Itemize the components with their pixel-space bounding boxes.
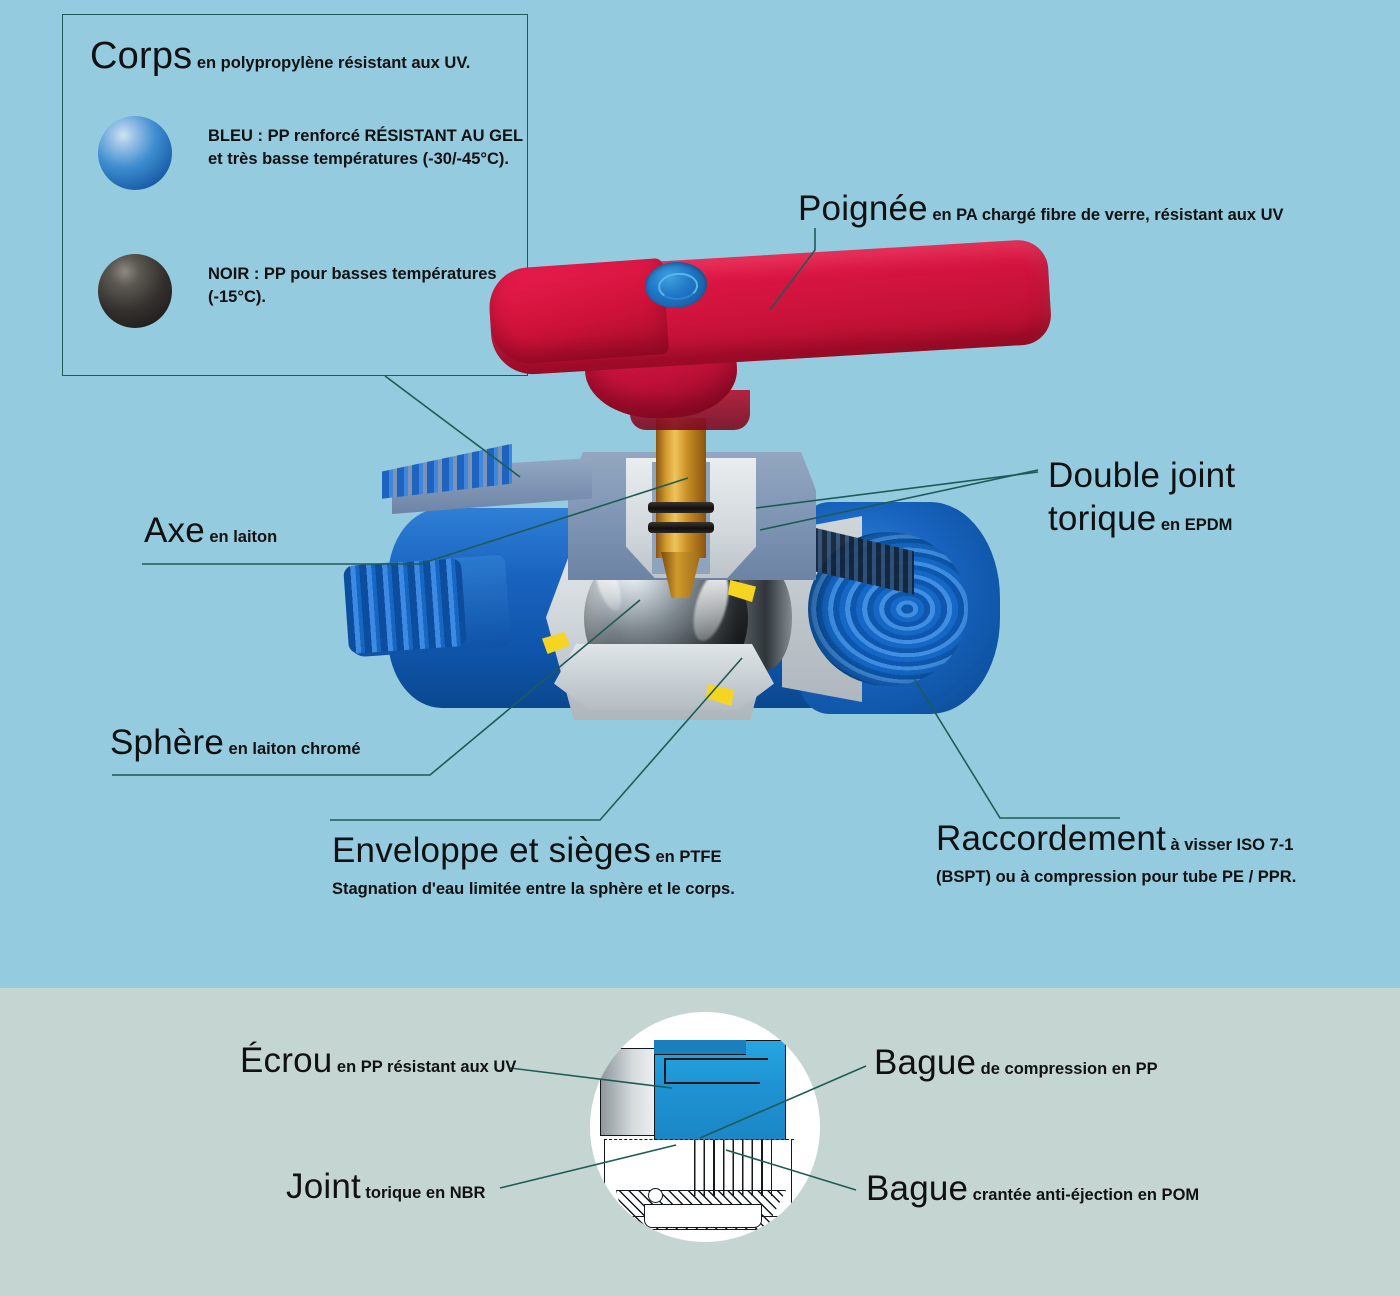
detail-blue-line-3 — [664, 1058, 666, 1084]
callout-ecrou-subtitle: en PP résistant aux UV — [337, 1058, 516, 1076]
legend-blue-line2: et très basse températures (-30/-45°C). — [208, 148, 523, 171]
callout-corps: Corps en polypropylène résistant aux UV. — [90, 34, 470, 79]
o-ring-lower — [648, 522, 714, 533]
legend-item-blue: BLEU : PP renforcé RÉSISTANT AU GEL et t… — [98, 116, 523, 190]
diagram-root: Corps en polypropylène résistant aux UV.… — [0, 0, 1400, 1296]
callout-axe-subtitle: en laiton — [209, 528, 277, 546]
detail-toothed-ring-ribs — [686, 1140, 772, 1196]
callout-sphere-title: Sphère — [110, 723, 224, 762]
callout-corps-subtitle: en polypropylène résistant aux UV. — [197, 54, 471, 72]
legend-blue-line1: BLEU : PP renforcé RÉSISTANT AU GEL — [208, 125, 523, 148]
callout-ecrou-title: Écrou — [240, 1041, 332, 1080]
callout-enveloppe-et-sieges: Enveloppe et sièges en PTFE Stagnation d… — [332, 830, 735, 900]
callout-double-joint-title-line2: torique — [1048, 499, 1156, 538]
callout-bague-crantee-subtitle: crantée anti-éjection en POM — [973, 1186, 1199, 1204]
callout-sphere-subtitle: en laiton chromé — [229, 740, 361, 758]
callout-double-joint-torique: Double joint torique en EPDM — [1048, 455, 1235, 540]
callout-raccordement: Raccordement à visser ISO 7-1 (BSPT) ou … — [936, 818, 1296, 888]
ball-valve-cutaway-illustration — [330, 240, 1070, 720]
detail-inner-sleeve — [644, 1204, 762, 1228]
callout-poignee: Poignée en PA chargé fibre de verre, rés… — [798, 188, 1284, 229]
detail-nut-body — [600, 1048, 659, 1136]
callout-sphere: Sphère en laiton chromé — [110, 722, 361, 763]
valve-seat-floor — [554, 644, 774, 710]
callout-raccordement-note: (BSPT) ou à compression pour tube PE / P… — [936, 868, 1296, 887]
o-ring-upper — [648, 502, 714, 513]
legend-item-blue-text: BLEU : PP renforcé RÉSISTANT AU GEL et t… — [208, 116, 523, 172]
black-sphere-swatch — [98, 254, 172, 328]
callout-bague-crantee: Bague crantée anti-éjection en POM — [866, 1168, 1199, 1209]
callout-raccordement-title: Raccordement — [936, 819, 1166, 858]
callout-bague-compression-title: Bague — [874, 1043, 976, 1082]
callout-joint-title: Joint — [286, 1167, 361, 1206]
callout-axe: Axe en laiton — [144, 510, 277, 551]
callout-raccordement-subtitle: à visser ISO 7-1 — [1170, 836, 1293, 854]
blue-sphere-swatch — [98, 116, 172, 190]
callout-enveloppe-note: Stagnation d'eau limitée entre la sphère… — [332, 880, 735, 899]
detail-o-ring — [648, 1188, 663, 1203]
callout-poignee-subtitle: en PA chargé fibre de verre, résistant a… — [932, 206, 1283, 224]
callout-double-joint-title-line1: Double joint — [1048, 456, 1235, 495]
callout-joint: Joint torique en NBR — [286, 1166, 485, 1207]
detail-blue-ring — [654, 1040, 786, 1142]
detail-blue-line-2 — [664, 1082, 760, 1084]
brass-stem — [656, 418, 706, 558]
callout-axe-title: Axe — [144, 511, 205, 550]
compression-fitting-detail-illustration — [590, 1012, 820, 1242]
callout-bague-compression: Bague de compression en PP — [874, 1042, 1158, 1083]
callout-poignee-title: Poignée — [798, 189, 928, 228]
callout-enveloppe-title: Enveloppe et sièges — [332, 831, 651, 870]
callout-bague-compression-subtitle: de compression en PP — [981, 1060, 1158, 1078]
detail-blue-step — [654, 1040, 746, 1055]
red-t-handle-left-arm — [487, 258, 669, 366]
callout-enveloppe-subtitle: en PTFE — [655, 848, 721, 866]
callout-ecrou: Écrou en PP résistant aux UV — [240, 1040, 516, 1081]
callout-double-joint-subtitle: en EPDM — [1161, 516, 1233, 534]
detail-center-axis-line — [604, 1139, 794, 1140]
callout-joint-subtitle: torique en NBR — [365, 1184, 485, 1202]
callout-corps-title: Corps — [90, 35, 192, 77]
detail-blue-line-1 — [664, 1058, 768, 1060]
valve-left-thread — [343, 558, 467, 654]
callout-bague-crantee-title: Bague — [866, 1169, 968, 1208]
